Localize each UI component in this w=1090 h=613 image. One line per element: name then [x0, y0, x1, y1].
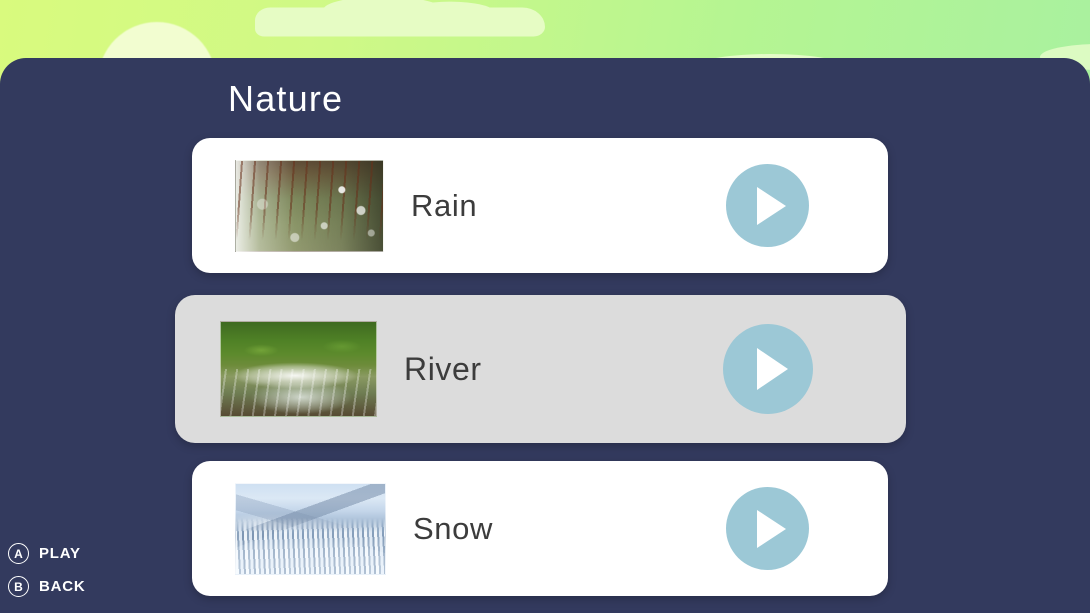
button-a-icon: A: [8, 543, 29, 564]
list-item[interactable]: River: [175, 295, 906, 443]
hint-back-label: BACK: [39, 578, 86, 595]
button-hints: A PLAY B BACK: [8, 543, 86, 597]
play-button[interactable]: [726, 164, 809, 247]
river-thumbnail: [220, 321, 377, 417]
play-icon: [757, 348, 788, 390]
page-title: Nature: [228, 78, 343, 120]
list-item-label: Rain: [411, 188, 477, 224]
cloud-shape-left-icon: [255, 8, 545, 37]
hint-play-label: PLAY: [39, 545, 81, 562]
play-button[interactable]: [726, 487, 809, 570]
list-item[interactable]: Snow: [192, 461, 888, 596]
play-button[interactable]: [723, 324, 813, 414]
hint-play[interactable]: A PLAY: [8, 543, 86, 564]
app-root: Nature Rain River Snow A PLAY: [0, 0, 1090, 613]
list-item-label: River: [404, 351, 482, 388]
button-b-icon: B: [8, 576, 29, 597]
play-icon: [757, 510, 786, 548]
hint-back[interactable]: B BACK: [8, 576, 86, 597]
play-icon: [757, 187, 786, 225]
snow-thumbnail: [235, 483, 386, 575]
list-item-label: Snow: [413, 511, 493, 547]
list-item[interactable]: Rain: [192, 138, 888, 273]
rain-thumbnail: [235, 160, 384, 252]
